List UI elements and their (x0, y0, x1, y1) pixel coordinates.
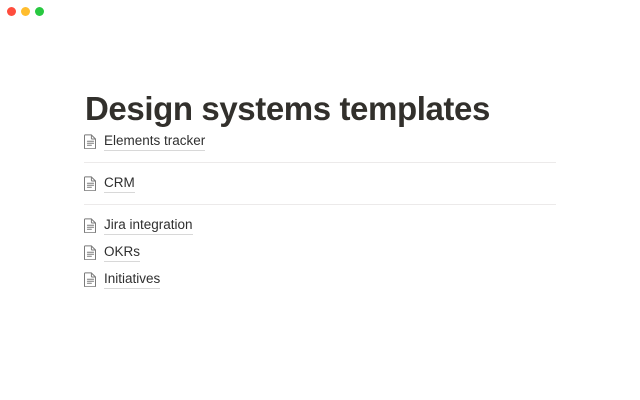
page-title: Design systems templates (85, 90, 490, 128)
document-list: Elements tracker CRM (84, 131, 556, 290)
spacer (84, 152, 556, 162)
minimize-window-button[interactable] (21, 7, 30, 16)
list-item-label[interactable]: Elements tracker (104, 133, 205, 151)
list-item[interactable]: Elements tracker (84, 131, 556, 152)
list-item-label[interactable]: Initiatives (104, 271, 160, 289)
document-icon (84, 134, 97, 149)
maximize-window-button[interactable] (35, 7, 44, 16)
list-item-label[interactable]: CRM (104, 175, 135, 193)
spacer (84, 194, 556, 204)
traffic-light-controls (7, 7, 44, 16)
list-item[interactable]: Initiatives (84, 269, 556, 290)
list-item-label[interactable]: OKRs (104, 244, 140, 262)
document-icon (84, 245, 97, 260)
list-item-label[interactable]: Jira integration (104, 217, 193, 235)
app-window: Design systems templates Elements tracke… (0, 0, 640, 400)
document-icon (84, 176, 97, 191)
title-bar (0, 0, 640, 28)
document-icon (84, 218, 97, 233)
document-content: Design systems templates Elements tracke… (0, 28, 640, 400)
list-item[interactable]: CRM (84, 173, 556, 194)
list-item[interactable]: Jira integration (84, 215, 556, 236)
list-item[interactable]: OKRs (84, 242, 556, 263)
spacer (84, 205, 556, 215)
close-window-button[interactable] (7, 7, 16, 16)
spacer (84, 163, 556, 173)
document-icon (84, 272, 97, 287)
